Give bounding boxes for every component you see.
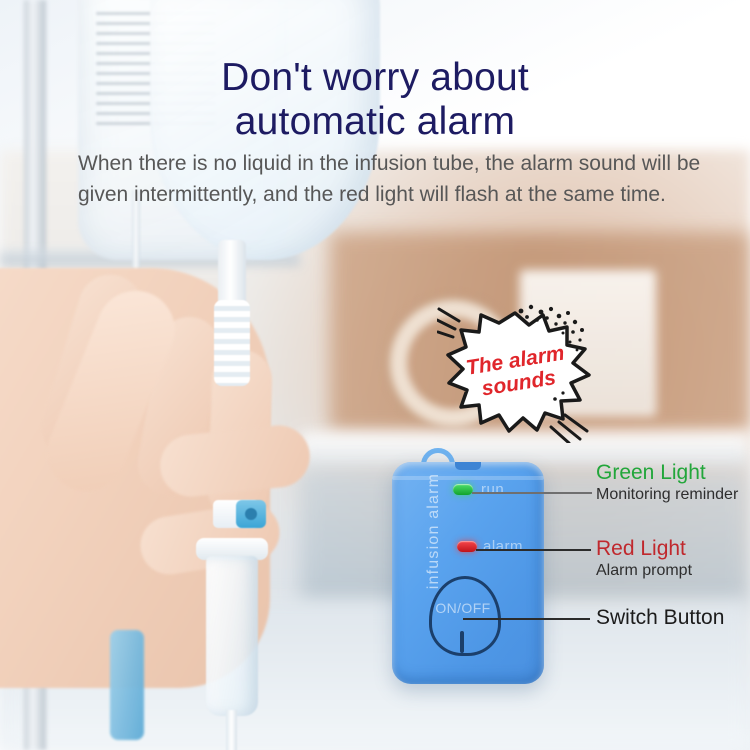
callout-red-title: Red Light bbox=[596, 537, 692, 561]
blue-tube-clip bbox=[110, 630, 144, 740]
leader-line-green bbox=[472, 492, 592, 494]
device-clip-notch bbox=[455, 462, 481, 470]
callout-red-light: Red Light Alarm prompt bbox=[596, 537, 692, 581]
iv-connector bbox=[214, 300, 250, 386]
callout-green-light: Green Light Monitoring reminder bbox=[596, 461, 738, 505]
description-text: When there is no liquid in the infusion … bbox=[78, 148, 703, 210]
alarm-burst-callout: The alarm sounds bbox=[437, 303, 597, 443]
iv-tube-lower bbox=[226, 710, 237, 750]
drip-chamber bbox=[206, 556, 258, 716]
run-led-label: run bbox=[481, 481, 504, 498]
callout-switch-title: Switch Button bbox=[596, 606, 724, 630]
green-led bbox=[453, 484, 473, 495]
leader-line-switch bbox=[463, 618, 590, 620]
red-led bbox=[457, 541, 477, 552]
power-switch-button[interactable] bbox=[429, 576, 501, 656]
infusion-alarm-device: infusion alarm run alarm ON/OFF bbox=[383, 448, 553, 688]
alarm-led-label: alarm bbox=[483, 538, 523, 555]
switch-button-label: ON/OFF bbox=[427, 600, 499, 616]
device-brand-text: infusion alarm bbox=[425, 456, 443, 606]
callout-red-sub: Alarm prompt bbox=[596, 561, 692, 581]
headline-line-2: automatic alarm bbox=[0, 100, 750, 144]
page-title: Don't worry about automatic alarm bbox=[0, 56, 750, 144]
callout-green-sub: Monitoring reminder bbox=[596, 485, 738, 505]
roller-clamp-wheel bbox=[236, 500, 266, 528]
device-seam bbox=[392, 476, 544, 480]
leader-line-red bbox=[476, 549, 591, 551]
callout-switch-button: Switch Button bbox=[596, 606, 724, 630]
callout-green-title: Green Light bbox=[596, 461, 738, 485]
headline-line-1: Don't worry about bbox=[0, 56, 750, 100]
product-infographic: Don't worry about automatic alarm When t… bbox=[0, 0, 750, 750]
